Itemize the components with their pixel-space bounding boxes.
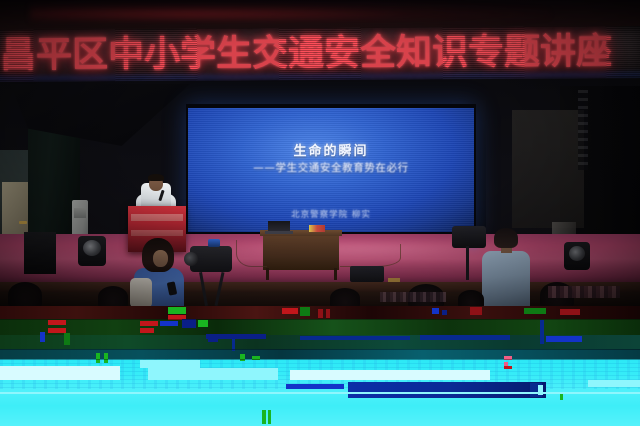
glitch-block bbox=[442, 310, 447, 315]
auditorium-scene: 昌平区中小学生交通安全知识专题讲座 生命的瞬间 ——学生交通安全教育势在必行 北… bbox=[0, 0, 640, 306]
seated-person-left-face bbox=[153, 250, 168, 267]
glitch-block bbox=[206, 334, 266, 339]
glitch-block bbox=[160, 321, 178, 326]
video-camera-right-stand bbox=[466, 246, 469, 280]
glitch-block bbox=[96, 353, 100, 363]
slide-subtitle: ——学生交通安全教育势在必行 bbox=[188, 160, 474, 175]
glitch-seam bbox=[0, 359, 640, 360]
glitch-block bbox=[282, 308, 298, 314]
podium-text-band-lower bbox=[131, 230, 183, 236]
glitch-block bbox=[148, 368, 278, 380]
audience-head-5 bbox=[458, 290, 484, 306]
glitch-block bbox=[546, 336, 582, 342]
glitch-block bbox=[300, 336, 410, 340]
stage-monitor-speaker bbox=[350, 266, 384, 282]
lighting-truss bbox=[578, 90, 588, 170]
projection-screen-surface: 生命的瞬间 ——学生交通安全教育势在必行 北京警察学院 柳实 bbox=[188, 108, 474, 232]
glitch-block bbox=[470, 307, 482, 315]
glitch-block bbox=[0, 366, 120, 380]
glitch-band-green-1 bbox=[0, 319, 640, 335]
stage-table bbox=[263, 236, 339, 270]
glitch-block bbox=[40, 332, 45, 342]
camera-operator bbox=[480, 228, 532, 306]
door-handle bbox=[19, 221, 27, 224]
glitch-block bbox=[286, 384, 344, 389]
photo-canvas: 昌平区中小学生交通安全知识专题讲座 生命的瞬间 ——学生交通安全教育势在必行 北… bbox=[0, 0, 640, 426]
right-wall-panel bbox=[512, 110, 584, 228]
tripod-leg-right bbox=[214, 272, 224, 306]
glitch-block bbox=[560, 309, 580, 315]
glitch-navy-bar bbox=[348, 382, 546, 398]
seated-person-left bbox=[128, 238, 186, 306]
stage-table-leg-right bbox=[334, 268, 337, 280]
camera-operator-hair bbox=[494, 228, 518, 248]
video-camera-left bbox=[186, 244, 238, 306]
glitch-block bbox=[140, 360, 200, 368]
stage-light-right-lens bbox=[569, 246, 585, 261]
glitch-block bbox=[168, 307, 186, 314]
table-item bbox=[309, 225, 325, 232]
slide-credit: 北京警察学院 柳实 bbox=[188, 208, 474, 220]
audience-head-2 bbox=[98, 286, 128, 306]
video-camera-lens bbox=[184, 252, 198, 266]
tripod-leg-left bbox=[199, 272, 208, 306]
audience-head-1 bbox=[8, 282, 42, 306]
camera-top-light bbox=[208, 239, 220, 247]
pa-speaker-cabinet bbox=[24, 232, 56, 274]
glitch-seam bbox=[0, 349, 640, 350]
glitch-block bbox=[268, 410, 271, 424]
projection-screen: 生命的瞬间 ——学生交通安全教育势在必行 北京警察学院 柳实 bbox=[186, 104, 476, 234]
glitch-block bbox=[0, 392, 640, 394]
stage-light-left bbox=[78, 236, 106, 266]
led-banner: 昌平区中小学生交通安全知识专题讲座 bbox=[0, 26, 640, 82]
slide-title: 生命的瞬间 bbox=[188, 140, 474, 159]
audience-banner-middle bbox=[380, 292, 446, 302]
glitch-block bbox=[432, 308, 439, 314]
glitch-block bbox=[524, 308, 546, 314]
podium-text-band-upper bbox=[131, 214, 183, 221]
camera-operator-shirt bbox=[482, 251, 530, 306]
glitch-block bbox=[64, 333, 70, 345]
stage-light-left-lens bbox=[83, 240, 101, 256]
glitch-block bbox=[540, 320, 544, 344]
glitch-block bbox=[300, 307, 310, 316]
led-banner-text: 昌平区中小学生交通安全知识专题讲座 bbox=[0, 34, 640, 74]
glitch-block bbox=[262, 410, 266, 424]
glitch-block bbox=[48, 320, 66, 325]
audience-head-3 bbox=[330, 288, 360, 306]
glitch-block bbox=[588, 380, 640, 387]
stage-cable-right bbox=[340, 244, 401, 267]
air-conditioner-vent bbox=[74, 208, 86, 218]
audience-banner-right bbox=[548, 286, 620, 298]
stage-table-leg-left bbox=[266, 268, 269, 280]
laptop-base bbox=[265, 231, 293, 234]
stage-light-right bbox=[564, 242, 590, 270]
glitch-block bbox=[140, 321, 158, 326]
glitch-block bbox=[140, 328, 154, 333]
glitch-block bbox=[326, 309, 330, 318]
shoulder-bag bbox=[130, 278, 152, 306]
glitch-block bbox=[420, 335, 510, 340]
ceiling-glow bbox=[30, 2, 550, 22]
glitch-block bbox=[290, 370, 490, 380]
stage-cable-left bbox=[236, 240, 267, 267]
glitch-block bbox=[504, 366, 512, 369]
glitch-block bbox=[198, 320, 208, 327]
glitch-seam bbox=[0, 319, 640, 320]
glitch-block bbox=[318, 309, 323, 318]
corruption-region bbox=[0, 306, 640, 426]
glitch-block bbox=[182, 319, 196, 328]
glitch-block bbox=[104, 353, 108, 363]
presenter-hair bbox=[148, 174, 164, 181]
